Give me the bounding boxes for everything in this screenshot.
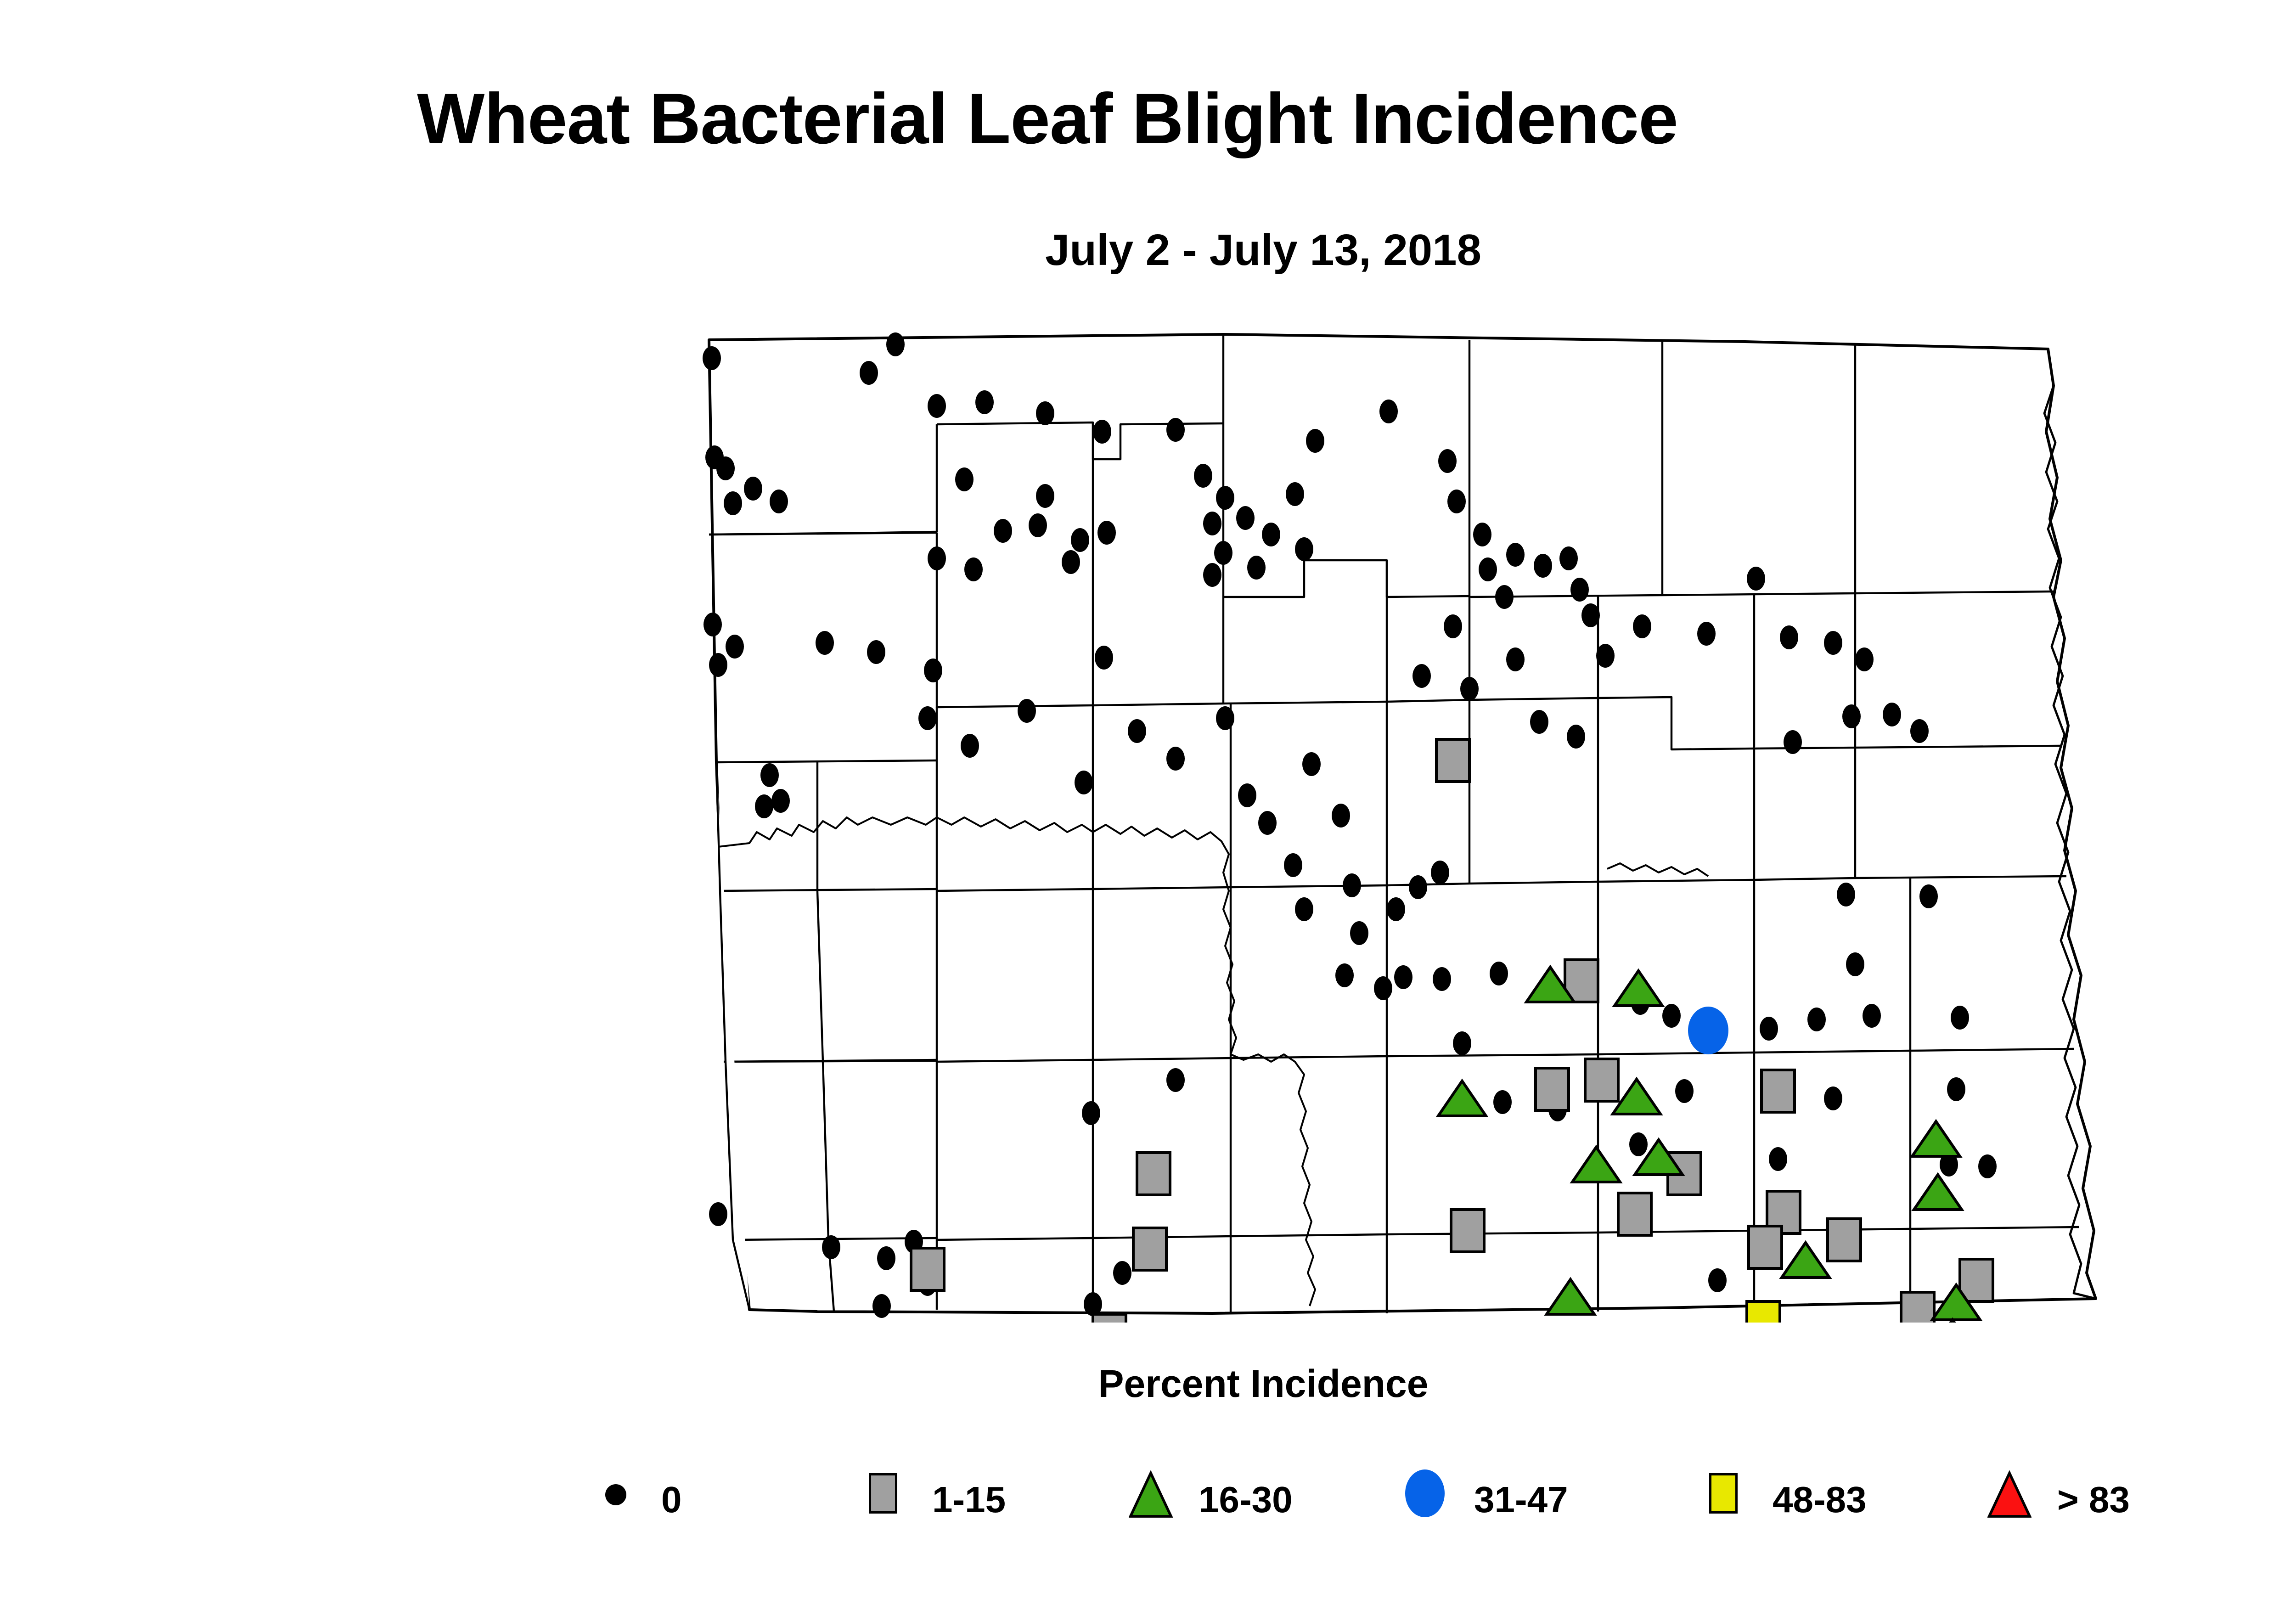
legend-triangle-icon [1984, 1460, 2043, 1529]
marker-zero [975, 390, 994, 414]
marker-31-47 [1688, 1007, 1728, 1054]
marker-zero [1453, 1031, 1471, 1055]
marker-zero [1262, 523, 1280, 546]
marker-1-15 [1451, 1210, 1484, 1252]
marker-1-15 [1137, 1153, 1170, 1195]
marker-zero [1824, 631, 1842, 655]
marker-zero [867, 640, 885, 664]
marker-zero [1203, 563, 1221, 587]
marker-zero [1093, 420, 1111, 444]
marker-zero [1306, 429, 1324, 453]
marker-48-83 [1747, 1301, 1780, 1323]
marker-zero [1258, 811, 1277, 835]
marker-zero [1837, 883, 1855, 906]
marker-zero [1460, 677, 1479, 701]
marker-zero [1697, 622, 1716, 646]
marker-zero [1479, 557, 1497, 581]
county-boundaries [709, 334, 2096, 1313]
marker-zero [1286, 482, 1304, 506]
marker-zero [1332, 804, 1350, 828]
marker-zero [1302, 752, 1321, 776]
marker-zero [1447, 490, 1466, 513]
legend-title: Percent Incidence [0, 1362, 2296, 1406]
marker-zero [1387, 897, 1405, 921]
north-dakota-county-map[interactable] [661, 321, 2296, 1323]
marker-zero [816, 631, 834, 655]
marker-zero [1029, 513, 1047, 537]
marker-1-15 [1761, 1070, 1795, 1112]
marker-zero [1084, 1292, 1102, 1316]
marker-zero [1662, 1004, 1681, 1028]
marker-zero [1581, 603, 1600, 627]
marker-zero [1947, 1077, 1965, 1101]
marker-zero [1824, 1086, 1842, 1110]
marker-zero [1855, 647, 1874, 671]
legend-square-icon [859, 1460, 918, 1529]
marker-zero [1883, 703, 1901, 726]
marker-zero [1495, 585, 1514, 609]
marker-zero [709, 653, 727, 677]
marker-zero [955, 467, 974, 491]
marker-1-15 [1093, 1314, 1126, 1323]
marker-zero [886, 332, 905, 356]
marker-zero [709, 1202, 727, 1226]
marker-zero [1493, 1090, 1512, 1114]
marker-zero [1350, 921, 1368, 945]
date-range-text: July 2 - July 13, 2018 [1045, 225, 1481, 276]
marker-zero [1018, 699, 1036, 723]
marker-zero [928, 546, 946, 570]
marker-zero [1335, 963, 1354, 987]
marker-1-15 [1536, 1068, 1569, 1110]
marker-zero [703, 613, 722, 636]
marker-zero [1216, 486, 1234, 510]
marker-zero [1075, 771, 1093, 794]
legend-dot-icon [592, 1460, 652, 1529]
marker-zero [1194, 464, 1212, 488]
square-icon [1709, 1473, 1738, 1514]
legend-label: 0 [661, 1479, 682, 1521]
square-icon [869, 1473, 897, 1514]
marker-1-15 [1436, 739, 1469, 782]
wheat-blight-incidence-map-page: Wheat Bacterial Leaf Blight Incidence Ju… [0, 0, 2296, 1610]
marker-zero [1863, 1004, 1881, 1028]
marker-1-15 [1749, 1226, 1782, 1268]
marker-zero [1097, 521, 1116, 545]
legend-title-text: Percent Incidence [1098, 1362, 1429, 1406]
marker-zero [1629, 1132, 1648, 1156]
marker-zero [1431, 861, 1449, 884]
circle-icon [1405, 1469, 1445, 1517]
legend: 01-1516-3031-4748-83> 83 [565, 1460, 2296, 1548]
marker-zero [1530, 710, 1548, 734]
marker-zero [760, 763, 779, 787]
marker-zero [1978, 1154, 1997, 1178]
marker-1-15 [1133, 1228, 1166, 1270]
marker-zero [1284, 853, 1302, 877]
marker-zero [1166, 418, 1185, 442]
marker-zero [1570, 578, 1589, 602]
marker-zero [770, 490, 788, 513]
marker-zero [1071, 528, 1089, 552]
marker-zero [1951, 1006, 1969, 1030]
marker-zero [1036, 401, 1054, 425]
marker-zero [1295, 537, 1313, 561]
marker-zero [755, 794, 773, 818]
marker-zero [1506, 543, 1525, 567]
date-range-subtitle: July 2 - July 13, 2018 [0, 225, 2296, 276]
marker-1-15 [1618, 1193, 1651, 1235]
marker-zero [724, 491, 742, 515]
marker-zero [994, 519, 1012, 543]
marker-zero [928, 394, 946, 418]
marker-zero [860, 361, 878, 385]
marker-zero [1166, 747, 1185, 771]
marker-zero [1919, 884, 1938, 908]
marker-zero [1247, 556, 1266, 580]
marker-zero [1633, 614, 1651, 638]
map-svg [661, 321, 2296, 1323]
marker-zero [964, 557, 983, 581]
marker-zero [1062, 550, 1080, 574]
marker-zero [822, 1235, 840, 1259]
legend-label: > 83 [2057, 1479, 2130, 1521]
marker-zero [1433, 967, 1451, 991]
marker-zero [1769, 1147, 1787, 1171]
marker-zero [1596, 644, 1615, 668]
legend-label: 1-15 [932, 1479, 1006, 1521]
marker-zero [1374, 976, 1392, 1000]
marker-zero [1295, 897, 1313, 921]
marker-zero [1238, 783, 1256, 807]
marker-zero [1412, 664, 1431, 688]
marker-zero [1506, 647, 1525, 671]
legend-triangle-icon [1125, 1460, 1185, 1529]
legend-label: 48-83 [1773, 1479, 1867, 1521]
marker-zero [961, 734, 979, 758]
marker-zero [1438, 449, 1457, 473]
legend-square-icon [1699, 1460, 1759, 1529]
marker-zero [924, 659, 942, 682]
marker-zero [1846, 952, 1864, 976]
marker-zero [1567, 725, 1585, 749]
marker-zero [1113, 1261, 1131, 1285]
marker-zero [1082, 1101, 1100, 1125]
marker-zero [1394, 965, 1412, 989]
dot-icon [605, 1484, 626, 1505]
marker-zero [771, 789, 790, 813]
marker-zero [726, 635, 744, 659]
marker-zero [1216, 706, 1234, 730]
marker-zero [1747, 567, 1765, 591]
marker-zero [1166, 1068, 1185, 1092]
legend-circle-icon [1401, 1460, 1460, 1529]
legend-label: 31-47 [1474, 1479, 1568, 1521]
marker-zero [1409, 875, 1427, 899]
triangle-icon [1987, 1470, 2032, 1519]
marker-zero [744, 477, 762, 501]
marker-zero [1842, 704, 1861, 728]
marker-zero [1095, 646, 1113, 670]
marker-zero [1379, 400, 1398, 423]
marker-zero [1708, 1268, 1727, 1292]
marker-1-15 [1585, 1059, 1618, 1101]
marker-zero [1214, 541, 1232, 565]
marker-1-15 [1901, 1292, 1934, 1323]
marker-zero [1675, 1079, 1694, 1103]
marker-1-15 [911, 1248, 944, 1290]
marker-zero [1559, 546, 1578, 570]
marker-zero [877, 1246, 895, 1270]
page-title: Wheat Bacterial Leaf Blight Incidence [0, 78, 2296, 160]
marker-zero [1807, 1008, 1826, 1031]
marker-zero [1444, 614, 1462, 638]
legend-label: 16-30 [1199, 1479, 1293, 1521]
marker-zero [1128, 719, 1146, 743]
marker-zero [1203, 512, 1221, 535]
triangle-icon [1129, 1470, 1173, 1519]
marker-zero [1473, 523, 1491, 546]
marker-zero [703, 346, 721, 370]
marker-zero [1236, 506, 1255, 530]
marker-zero [1784, 730, 1802, 754]
marker-zero [1534, 554, 1552, 578]
marker-zero [716, 456, 735, 480]
marker-zero [1343, 873, 1361, 897]
marker-zero [1760, 1017, 1778, 1041]
marker-zero [1780, 625, 1798, 649]
marker-zero [1910, 719, 1929, 743]
page-title-text: Wheat Bacterial Leaf Blight Incidence [417, 78, 1678, 160]
marker-zero [918, 706, 937, 730]
marker-zero [872, 1294, 891, 1318]
marker-1-15 [1828, 1219, 1861, 1261]
marker-zero [1036, 484, 1054, 508]
marker-zero [1490, 962, 1508, 985]
